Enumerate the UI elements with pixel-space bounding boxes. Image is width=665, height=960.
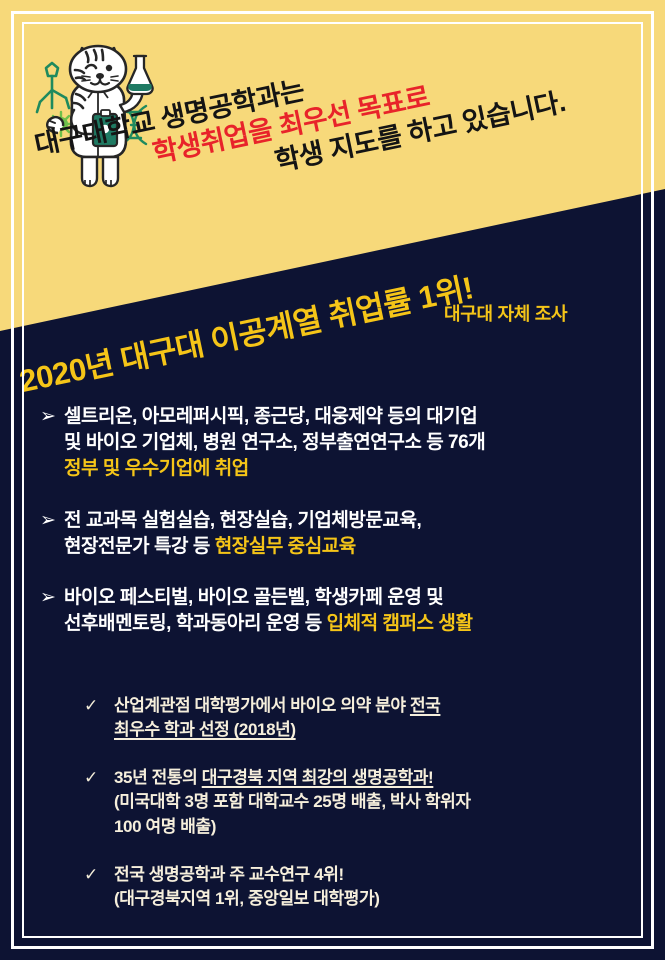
achievement-line: 전국 생명공학과 주 교수연구 4위! — [114, 865, 344, 884]
achievement-item-text: 산업계관점 대학평가에서 바이오 의약 분야 전국 최우수 학과 선정 (201… — [114, 694, 631, 742]
achievement-line: 산업계관점 대학평가에서 바이오 의약 분야 — [114, 696, 410, 715]
check-icon: ✓ — [84, 863, 114, 911]
achievement-item: ✓ 35년 전통의 대구경북 지역 최강의 생명공학과! (미국대학 3명 포함… — [84, 766, 631, 838]
bullet-line-highlight: 현장실무 중심교육 — [215, 536, 356, 557]
bullet-line: 셀트리온, 아모레퍼시픽, 종근당, 대웅제약 등의 대기업 — [64, 406, 477, 427]
achievement-line-underlined: 최우수 학과 선정 (2018년) — [114, 720, 296, 739]
bullet-list: ➢ 셀트리온, 아모레퍼시픽, 종근당, 대웅제약 등의 대기업 및 바이오 기… — [40, 404, 635, 663]
poster-root: 대구대학교 생명공학과는 학생취업을 최우선 목표로 학생 지도를 하고 있습니… — [0, 0, 665, 960]
bullet-line-highlight: 입체적 캠퍼스 생활 — [327, 613, 473, 634]
achievement-line: 35년 전통의 — [114, 768, 202, 787]
check-icon: ✓ — [84, 694, 114, 742]
achievement-line-underlined: 전국 — [410, 696, 440, 715]
achievement-line: 100 여명 배출) — [114, 817, 216, 836]
achievement-line: (대구경북지역 1위, 중앙일보 대학평가) — [114, 889, 379, 908]
achievement-line: (미국대학 3명 포함 대학교수 25명 배출, 박사 학위자 — [114, 792, 471, 811]
bullet-line: 및 바이오 기업체, 병원 연구소, 정부출연연구소 등 76개 — [64, 432, 485, 453]
achievement-list: ✓ 산업계관점 대학평가에서 바이오 의약 분야 전국 최우수 학과 선정 (2… — [84, 694, 631, 935]
achievement-item: ✓ 전국 생명공학과 주 교수연구 4위! (대구경북지역 1위, 중앙일보 대… — [84, 863, 631, 911]
bullet-line: 현장전문가 특강 등 — [64, 536, 215, 557]
arrow-bullet-icon: ➢ — [40, 508, 64, 560]
bullet-line: 선후배멘토링, 학과동아리 운영 등 — [64, 613, 327, 634]
bullet-item: ➢ 전 교과목 실험실습, 현장실습, 기업체방문교육, 현장전문가 특강 등 … — [40, 508, 635, 560]
bullet-item: ➢ 바이오 페스티벌, 바이오 골든벨, 학생카페 운영 및 선후배멘토링, 학… — [40, 585, 635, 637]
survey-source-note: 대구대 자체 조사 — [444, 300, 567, 326]
bullet-item-text: 바이오 페스티벌, 바이오 골든벨, 학생카페 운영 및 선후배멘토링, 학과동… — [64, 585, 635, 637]
bullet-line-highlight: 정부 및 우수기업에 취업 — [64, 458, 249, 479]
achievement-line-underlined: 대구경북 지역 최강의 생명공학과! — [202, 768, 434, 787]
bullet-item-text: 전 교과목 실험실습, 현장실습, 기업체방문교육, 현장전문가 특강 등 현장… — [64, 508, 635, 560]
arrow-bullet-icon: ➢ — [40, 404, 64, 483]
achievement-item-text: 35년 전통의 대구경북 지역 최강의 생명공학과! (미국대학 3명 포함 대… — [114, 766, 631, 838]
check-icon: ✓ — [84, 766, 114, 838]
bullet-item-text: 셀트리온, 아모레퍼시픽, 종근당, 대웅제약 등의 대기업 및 바이오 기업체… — [64, 404, 635, 483]
bullet-line: 바이오 페스티벌, 바이오 골든벨, 학생카페 운영 및 — [64, 587, 443, 608]
bullet-line: 전 교과목 실험실습, 현장실습, 기업체방문교육, — [64, 510, 421, 531]
achievement-item-text: 전국 생명공학과 주 교수연구 4위! (대구경북지역 1위, 중앙일보 대학평… — [114, 863, 631, 911]
achievement-item: ✓ 산업계관점 대학평가에서 바이오 의약 분야 전국 최우수 학과 선정 (2… — [84, 694, 631, 742]
bullet-item: ➢ 셀트리온, 아모레퍼시픽, 종근당, 대웅제약 등의 대기업 및 바이오 기… — [40, 404, 635, 483]
arrow-bullet-icon: ➢ — [40, 585, 64, 637]
